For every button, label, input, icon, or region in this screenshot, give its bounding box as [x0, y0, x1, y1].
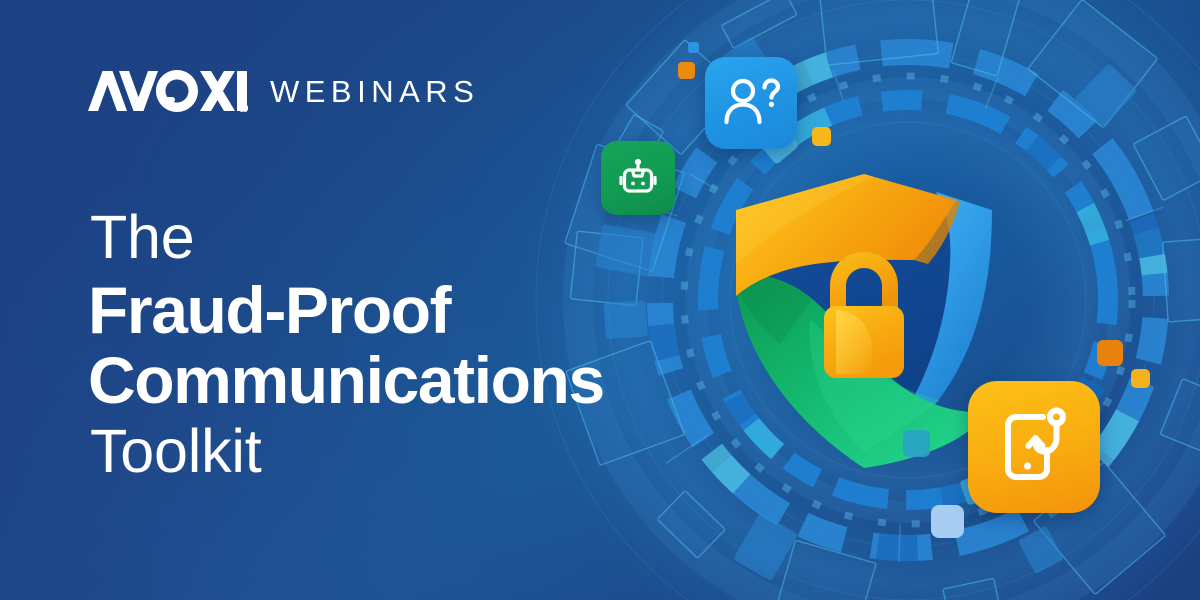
headline-line-3: Communications [88, 345, 728, 416]
headline-line-4: Toolkit [90, 420, 728, 483]
accent-square-lightblue [931, 505, 964, 538]
headline-line-2: Fraud-Proof [88, 275, 728, 346]
accent-square-teal [903, 430, 930, 457]
webinars-label: WEBINARS [270, 76, 479, 107]
phone-phishing-hook-icon [995, 406, 1073, 488]
content-column: R WEBINARS The Fraud-Proof Communication… [88, 0, 728, 600]
svg-text:R: R [241, 106, 245, 112]
person-question-icon [722, 75, 780, 131]
brand-lockup: R WEBINARS [88, 70, 479, 112]
phishing-badge [968, 381, 1100, 513]
headline-line-1: The [90, 206, 728, 269]
accent-dot-yellow [812, 127, 831, 146]
webinar-banner: R WEBINARS The Fraud-Proof Communication… [0, 0, 1200, 600]
avoxi-logo-icon: R [88, 70, 248, 112]
page-title: The Fraud-Proof Communications Toolkit [88, 206, 728, 483]
accent-square-orange [1097, 340, 1123, 366]
accent-square-yellow [1131, 369, 1150, 388]
